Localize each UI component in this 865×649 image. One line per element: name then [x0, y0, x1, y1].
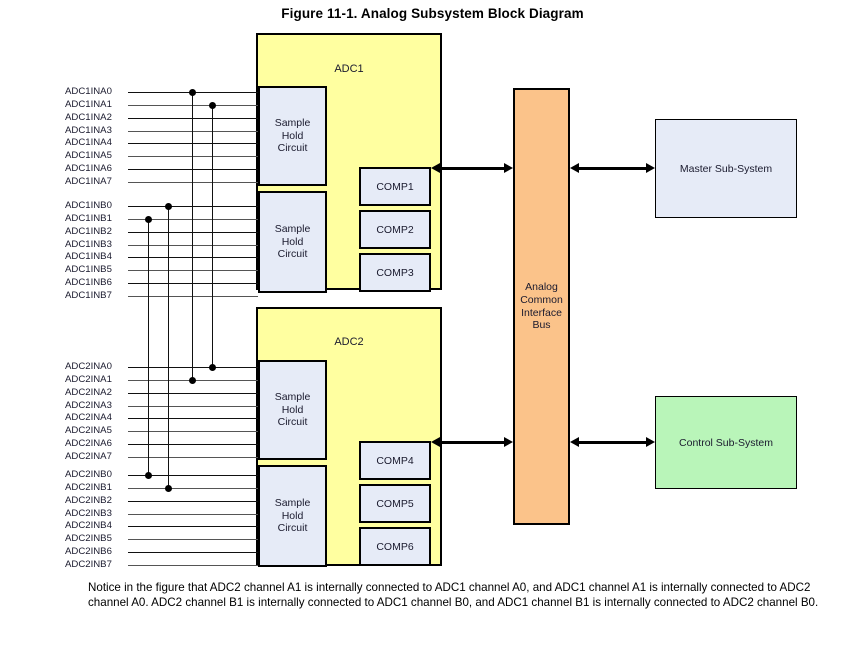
comparator-comp6: COMP6 — [359, 527, 431, 566]
sh-line-1: Hold — [275, 130, 311, 143]
pin-label-adc1ina5: ADC1INA5 — [65, 151, 112, 161]
pin-label-adc1inb7: ADC1INB7 — [65, 291, 112, 301]
analog-common-interface-bus: Analog Common Interface Bus — [513, 88, 570, 525]
pin-label-adc1inb0: ADC1INB0 — [65, 201, 112, 211]
pin-label-adc2inb7: ADC2INB7 — [65, 560, 112, 570]
junction-dot-adc2inb0 — [145, 472, 152, 479]
pin-label-adc1ina6: ADC1INA6 — [65, 164, 112, 174]
pin-label-adc2ina3: ADC2INA3 — [65, 401, 112, 411]
sh-line-2: Circuit — [275, 522, 311, 535]
comparator-comp2: COMP2 — [359, 210, 431, 249]
pin-label-adc2ina7: ADC2INA7 — [65, 452, 112, 462]
arrow-bus-to-control — [570, 437, 655, 448]
comp5-label: COMP5 — [376, 498, 413, 510]
cross-connect-adc1inb1-adc2inb0 — [148, 219, 149, 475]
junction-dot-adc2ina1 — [189, 377, 196, 384]
signal-wire-adc1ina2 — [128, 118, 258, 119]
pin-label-adc1ina4: ADC1INA4 — [65, 138, 112, 148]
sh-line-1: Hold — [275, 510, 311, 523]
pin-label-adc2ina0: ADC2INA0 — [65, 362, 112, 372]
signal-wire-adc1ina4 — [128, 143, 258, 144]
junction-dot-adc2ina0 — [209, 364, 216, 371]
pin-label-adc1ina3: ADC1INA3 — [65, 126, 112, 136]
signal-wire-adc1ina6 — [128, 169, 258, 170]
pin-label-adc2inb1: ADC2INB1 — [65, 483, 112, 493]
sh-line-1: Hold — [275, 404, 311, 417]
adc2-sample-hold-b: Sample Hold Circuit — [258, 465, 327, 567]
comp1-label: COMP1 — [376, 181, 413, 193]
pin-label-adc2inb4: ADC2INB4 — [65, 521, 112, 531]
comparator-comp5: COMP5 — [359, 484, 431, 523]
signal-wire-adc1ina3 — [128, 131, 258, 132]
pin-label-adc1inb6: ADC1INB6 — [65, 278, 112, 288]
pin-label-adc1ina1: ADC1INA1 — [65, 100, 112, 110]
comp6-label: COMP6 — [376, 541, 413, 553]
master-subsystem-block: Master Sub-System — [655, 119, 797, 218]
control-subsystem-label: Control Sub-System — [679, 437, 773, 449]
master-subsystem-label: Master Sub-System — [680, 163, 772, 175]
pin-label-adc2inb5: ADC2INB5 — [65, 534, 112, 544]
adc1-title: ADC1 — [258, 63, 440, 75]
adc1-sample-hold-b: Sample Hold Circuit — [258, 191, 327, 293]
sh-line-1: Hold — [275, 236, 311, 249]
comp3-label: COMP3 — [376, 267, 413, 279]
sh-line-0: Sample — [275, 497, 311, 510]
cross-connect-adc1ina0-adc2ina1 — [192, 92, 193, 380]
pin-label-adc2ina2: ADC2INA2 — [65, 388, 112, 398]
signal-wire-adc2inb6 — [128, 552, 258, 553]
arrow-adc2-to-bus — [431, 437, 513, 448]
bus-label-line-1: Common — [520, 294, 563, 307]
sh-line-0: Sample — [275, 391, 311, 404]
signal-wire-adc2inb3 — [128, 514, 258, 515]
pin-label-adc2ina1: ADC2INA1 — [65, 375, 112, 385]
sh-line-2: Circuit — [275, 416, 311, 429]
pin-label-adc1ina0: ADC1INA0 — [65, 87, 112, 97]
pin-label-adc1inb2: ADC1INB2 — [65, 227, 112, 237]
signal-wire-adc2inb1 — [128, 488, 258, 489]
comparator-comp4: COMP4 — [359, 441, 431, 480]
signal-wire-adc2inb7 — [128, 565, 258, 566]
signal-wire-adc2inb5 — [128, 539, 258, 540]
sh-line-2: Circuit — [275, 142, 311, 155]
junction-dot-adc1inb1 — [145, 216, 152, 223]
signal-wire-adc2inb4 — [128, 526, 258, 527]
arrow-bus-to-master — [570, 163, 655, 174]
arrow-adc1-to-bus — [431, 163, 513, 174]
pin-label-adc2ina6: ADC2INA6 — [65, 439, 112, 449]
junction-dot-adc1ina0 — [189, 89, 196, 96]
bus-label-line-2: Interface — [520, 307, 563, 320]
signal-wire-adc2inb2 — [128, 501, 258, 502]
arrow-shaft — [438, 441, 506, 444]
arrow-shaft — [577, 441, 648, 444]
arrowhead-right — [646, 163, 655, 173]
pin-label-adc1ina7: ADC1INA7 — [65, 177, 112, 187]
signal-wire-adc1inb0 — [128, 206, 258, 207]
adc2-title: ADC2 — [258, 336, 440, 348]
arrowhead-right — [504, 163, 513, 173]
control-subsystem-block: Control Sub-System — [655, 396, 797, 489]
cross-connect-adc1ina1-adc2ina0 — [212, 105, 213, 367]
cross-connect-adc1inb0-adc2inb1 — [168, 206, 169, 488]
arrowhead-right — [504, 437, 513, 447]
pin-label-adc1inb3: ADC1INB3 — [65, 240, 112, 250]
pin-label-adc2inb3: ADC2INB3 — [65, 509, 112, 519]
pin-label-adc1inb4: ADC1INB4 — [65, 252, 112, 262]
arrowhead-right — [646, 437, 655, 447]
arrow-shaft — [438, 167, 506, 170]
pin-label-adc2ina5: ADC2INA5 — [65, 426, 112, 436]
figure-title: Figure 11-1. Analog Subsystem Block Diag… — [0, 6, 865, 21]
adc1-sample-hold-a: Sample Hold Circuit — [258, 86, 327, 186]
comparator-comp1: COMP1 — [359, 167, 431, 206]
adc2-sample-hold-a: Sample Hold Circuit — [258, 360, 327, 460]
pin-label-adc2ina4: ADC2INA4 — [65, 413, 112, 423]
junction-dot-adc2inb1 — [165, 485, 172, 492]
signal-wire-adc1ina7 — [128, 182, 258, 183]
pin-label-adc1inb5: ADC1INB5 — [65, 265, 112, 275]
comp2-label: COMP2 — [376, 224, 413, 236]
sh-line-0: Sample — [275, 223, 311, 236]
junction-dot-adc1ina1 — [209, 102, 216, 109]
arrow-shaft — [577, 167, 648, 170]
sh-line-2: Circuit — [275, 248, 311, 261]
pin-label-adc2inb2: ADC2INB2 — [65, 496, 112, 506]
sh-line-0: Sample — [275, 117, 311, 130]
pin-label-adc2inb0: ADC2INB0 — [65, 470, 112, 480]
junction-dot-adc1inb0 — [165, 203, 172, 210]
signal-wire-adc1ina1 — [128, 105, 258, 106]
comp4-label: COMP4 — [376, 455, 413, 467]
bus-label-line-0: Analog — [520, 281, 563, 294]
pin-label-adc1ina2: ADC1INA2 — [65, 113, 112, 123]
pin-label-adc2inb6: ADC2INB6 — [65, 547, 112, 557]
signal-wire-adc1ina5 — [128, 156, 258, 157]
pin-label-adc1inb1: ADC1INB1 — [65, 214, 112, 224]
comparator-comp3: COMP3 — [359, 253, 431, 292]
figure-caption: Notice in the figure that ADC2 channel A… — [88, 580, 840, 611]
bus-label-line-3: Bus — [520, 319, 563, 332]
